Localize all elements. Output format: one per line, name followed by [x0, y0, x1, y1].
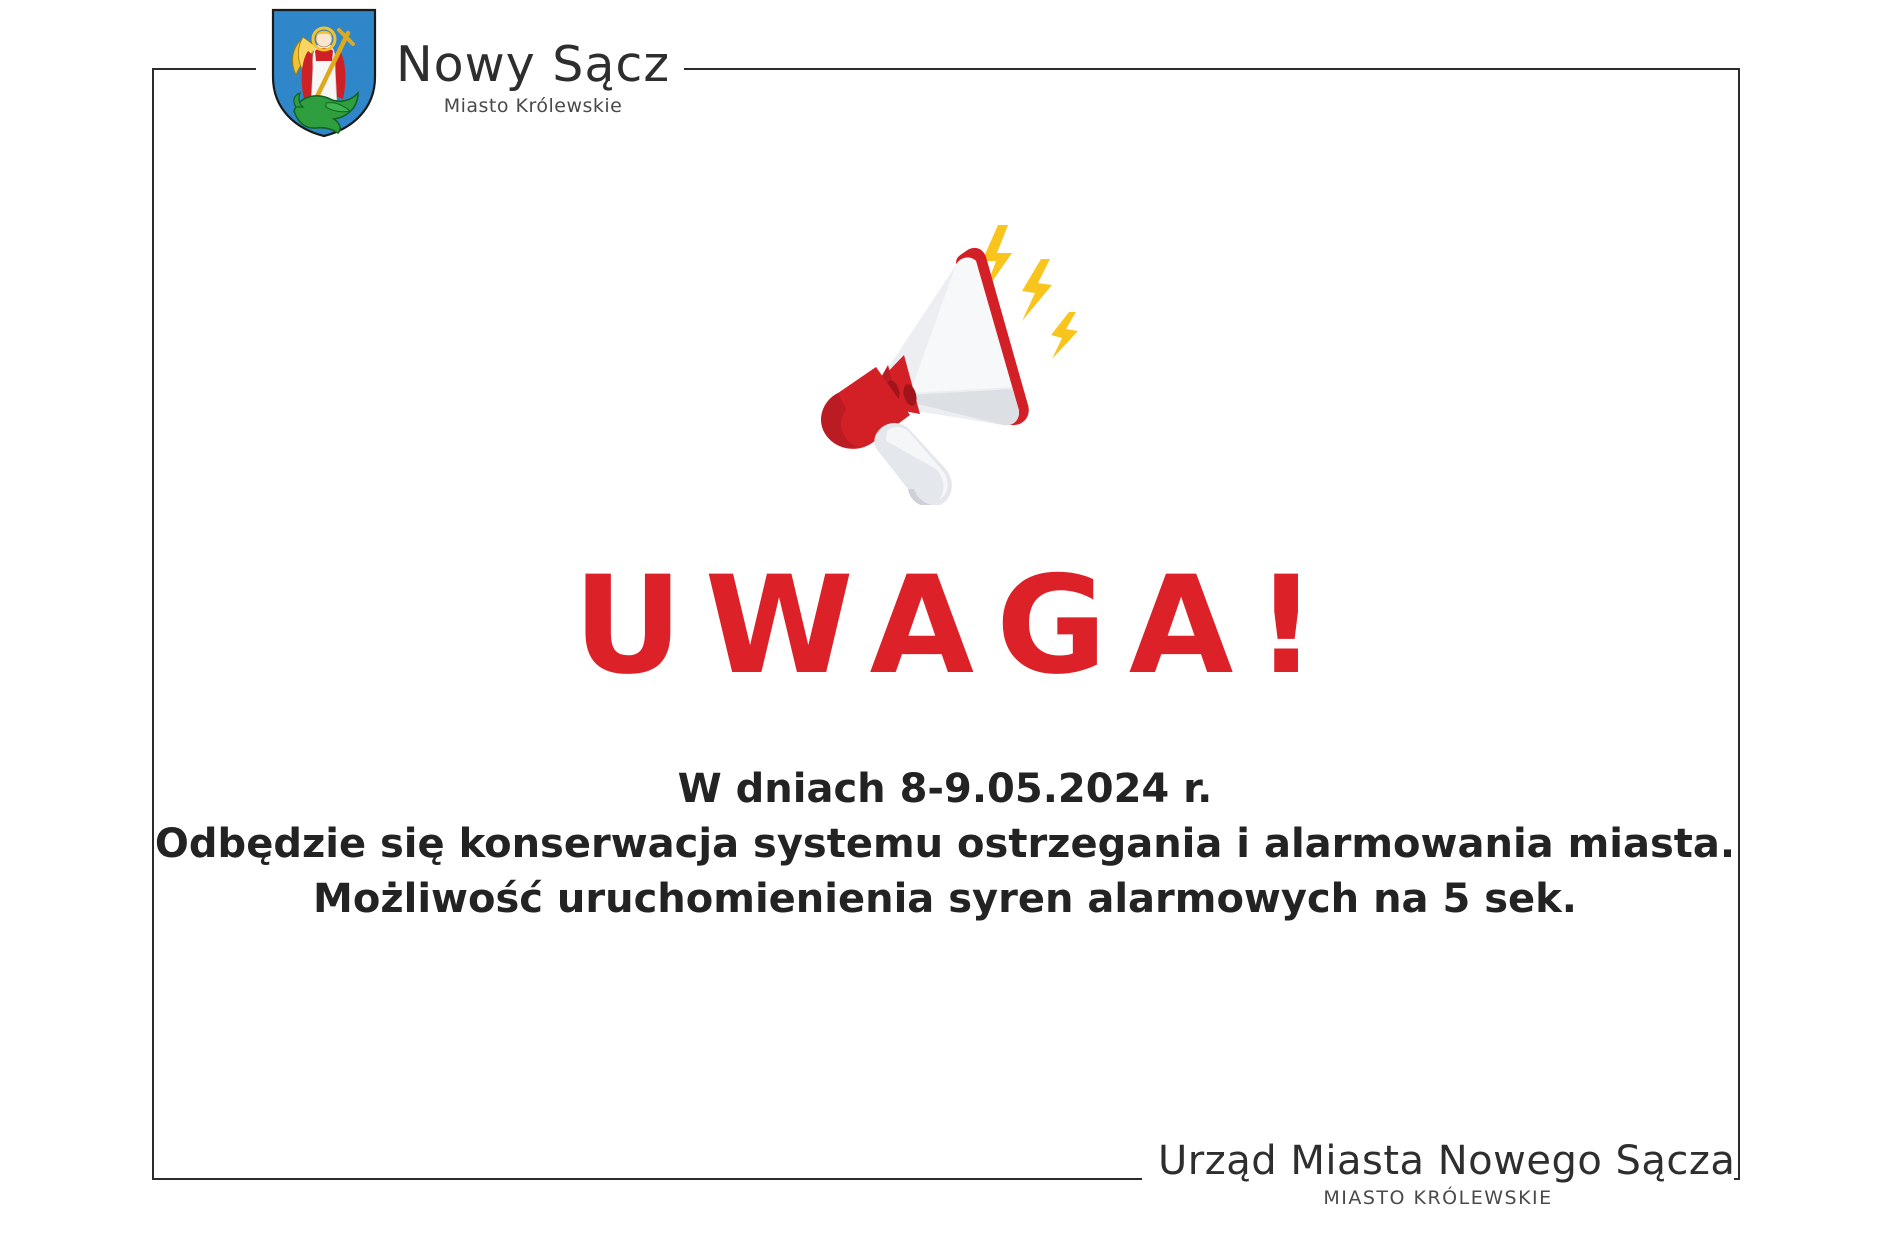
megaphone-icon [760, 215, 1090, 505]
nowy-sacz-coat-of-arms-icon [270, 7, 378, 139]
announcement-body: W dniach 8-9.05.2024 r. Odbędzie się kon… [0, 762, 1890, 928]
announcement-line-3: Możliwość uruchomienienia syren alarmowy… [0, 872, 1890, 927]
announcement-line-1: W dniach 8-9.05.2024 r. [0, 762, 1890, 817]
issuing-office-name: Urząd Miasta Nowego Sącza [1158, 1140, 1718, 1183]
announcement-poster: Nowy Sącz Miasto Królewskie [0, 0, 1890, 1241]
issuing-office-tagline: MIASTO KRÓLEWSKIE [1158, 1187, 1718, 1209]
city-name: Nowy Sącz [396, 40, 670, 89]
city-logo-text: Nowy Sącz Miasto Królewskie [396, 30, 670, 117]
frame-border-top-left [152, 68, 256, 70]
frame-border-bottom-left [152, 1178, 1142, 1180]
city-logo: Nowy Sącz Miasto Królewskie [256, 8, 684, 138]
frame-border-top-right [640, 68, 1740, 70]
page-title: UWAGA! [0, 555, 1890, 697]
announcement-line-2: Odbędzie się konserwacja systemu ostrzeg… [0, 817, 1890, 872]
city-tagline: Miasto Królewskie [396, 95, 670, 117]
footer-signature: Urząd Miasta Nowego Sącza MIASTO KRÓLEWS… [1142, 1140, 1734, 1209]
